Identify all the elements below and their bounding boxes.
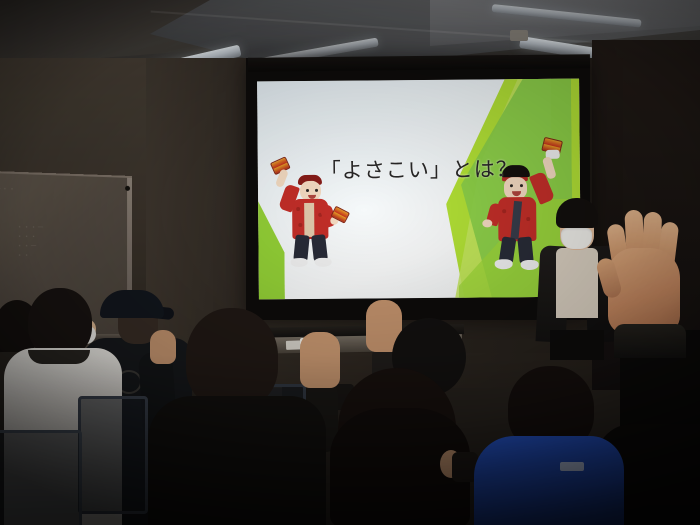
audience-blue-shirt-body [474,436,624,525]
dancer-right-eye-right [520,184,523,187]
whiteboard-handwriting-body: ・・・ー ・・・ ・・ー ・・ [16,224,44,262]
dancer-left-happi-front [304,203,314,237]
presenter-shirt [556,248,598,318]
dancer-left-pattern-1 [296,207,300,211]
dancer-left-shoe-left [291,258,308,267]
raised-hand-foreground [596,196,690,346]
presenter-face-mask [561,228,592,249]
dancer-right-pattern-1 [502,209,506,213]
audience-blue-shirt-tag [560,462,584,471]
dancer-left-shoe-right [315,258,332,267]
presenter-hair [556,198,598,228]
audience-raised-hand-left [300,332,340,388]
audience-cap-person-cap [100,290,164,318]
audience-dark-head-center-left-body [148,396,326,525]
dancer-right-hand-side [482,219,492,227]
audience-cap-person-hand [150,330,176,364]
audience-dark-head-center-left [186,308,278,408]
chair-back-2 [78,396,148,514]
dancer-right-pattern-2 [526,217,530,221]
dancer-right-shoe-left [495,259,513,269]
dancer-right-eye-left [510,184,513,187]
classroom-presentation-photo: ー・・ ・・・ー ・・・ ・・ー ・・ [0,0,700,525]
slide-title: 「よさこい」とは？ [258,153,580,186]
foreground-hand-sleeve [614,324,686,358]
dancer-left-eye-right [315,189,318,192]
whiteboard-handwriting-top: ー・・ [0,186,16,206]
tube-mount-right [510,30,528,41]
whiteboard-knob-top [125,186,130,191]
dancer-left-pattern-3 [298,223,302,227]
audience-white-shirt-collar [28,350,90,364]
chair-back-1 [0,430,82,525]
dancer-left-eye-left [306,189,309,192]
projection-screen: 「よさこい」とは？ [257,79,581,300]
